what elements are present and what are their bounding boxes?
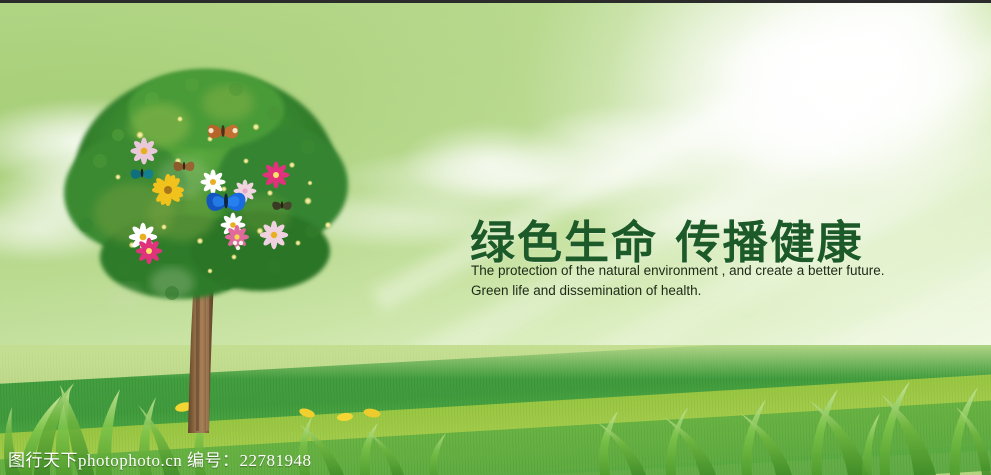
flower-pink-lower-right: [225, 225, 249, 249]
lens-flare-dot-1: [885, 95, 911, 121]
flowering-tree: [60, 65, 360, 435]
flower-pale-daisy-far-right: [260, 221, 288, 249]
butterfly-orange-top: [208, 125, 239, 139]
butterfly-brown-mid: [174, 162, 195, 171]
watermark-text: 图行天下photophoto.cn 编号：22781948: [8, 446, 312, 471]
flower-white-daisy-center: [201, 170, 226, 195]
butterfly-teal-left: [131, 169, 154, 179]
subtitle-line-2: Green life and dissemination of health.: [471, 281, 701, 300]
flower-magenta-right: [263, 162, 290, 189]
butterfly-blue-center: [206, 193, 245, 211]
butterfly-dark-right: [272, 201, 291, 210]
flower-pink-daisy-upper-left: [131, 138, 158, 165]
subtitle-line-1: The protection of the natural environmen…: [471, 261, 885, 280]
poster-canvas: 绿色生命 传播健康 The protection of the natural …: [0, 0, 991, 475]
sun-glow-core: [731, 0, 991, 193]
lens-flare-dot-2: [825, 143, 841, 159]
tree-canopy: [64, 69, 348, 310]
flower-pink-lower-left: [136, 238, 162, 264]
